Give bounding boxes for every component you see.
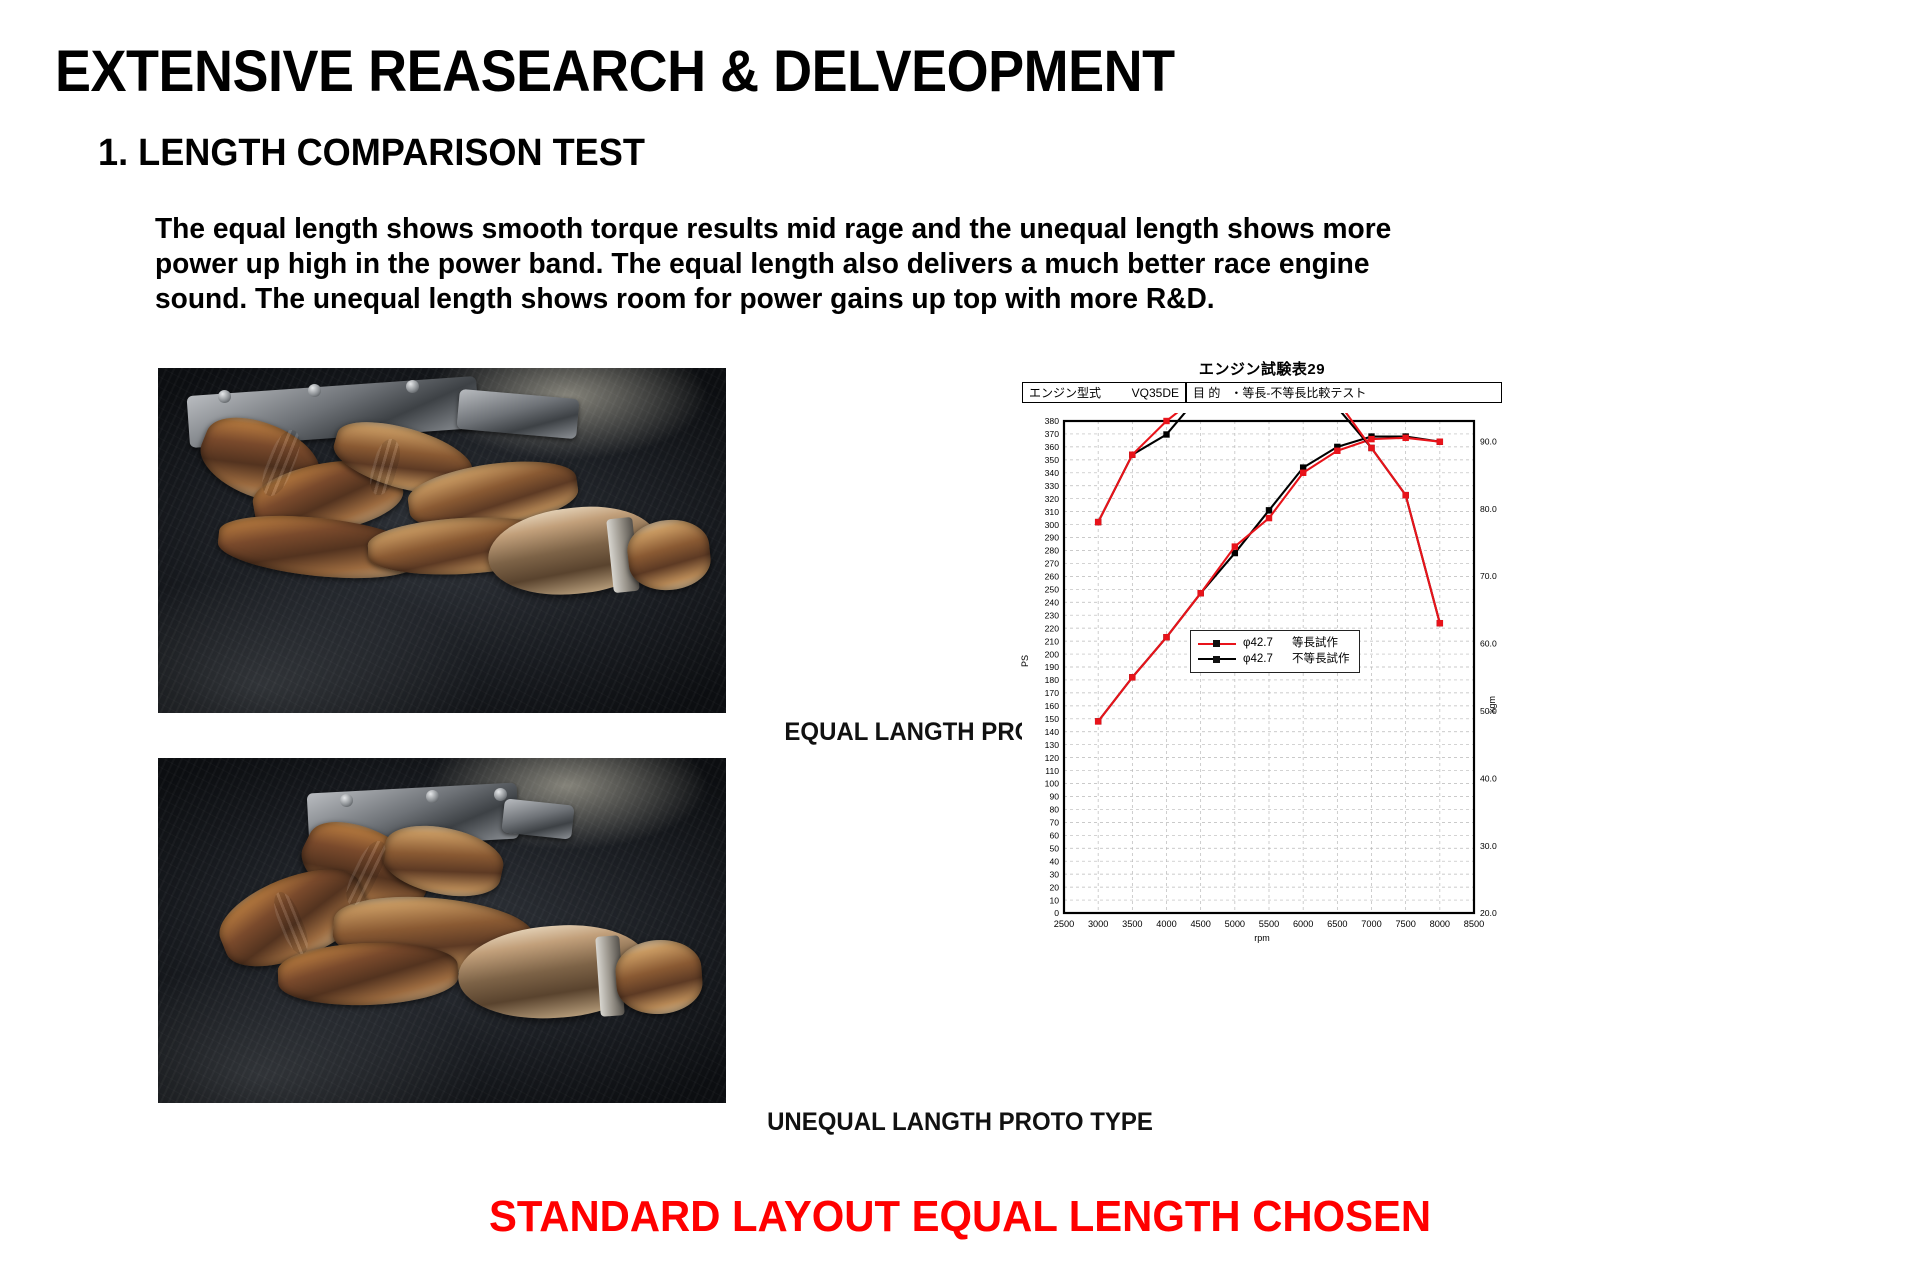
- svg-text:60: 60: [1049, 831, 1059, 841]
- legend-diameter: φ42.7: [1243, 652, 1285, 668]
- svg-text:190: 190: [1045, 662, 1060, 672]
- svg-text:100: 100: [1045, 779, 1060, 789]
- footer-callout: STANDARD LAYOUT EQUAL LENGTH CHOSEN: [48, 1192, 1872, 1242]
- svg-text:340: 340: [1045, 468, 1060, 478]
- svg-text:80: 80: [1049, 805, 1059, 815]
- svg-text:130: 130: [1045, 740, 1060, 750]
- flange-bolt: [218, 390, 231, 403]
- svg-text:8500: 8500: [1464, 919, 1484, 929]
- equal-length-header-photo: [158, 368, 726, 713]
- svg-text:40: 40: [1049, 856, 1059, 866]
- slide-root: EXTENSIVE REASEARCH & DELVEOPMENT 1. LEN…: [0, 0, 1920, 1280]
- svg-text:350: 350: [1045, 455, 1060, 465]
- svg-text:3000: 3000: [1088, 919, 1108, 929]
- chart-title: エンジン試験表29: [1022, 358, 1502, 379]
- head-flange: [501, 798, 574, 839]
- flange-bolt: [494, 788, 507, 801]
- legend-item-unequal: φ42.7 不等長試作: [1198, 652, 1350, 668]
- test-purpose-cell: 目 的 ・等長-不等長比較テスト: [1186, 382, 1502, 403]
- svg-text:6000: 6000: [1293, 919, 1313, 929]
- svg-text:60.0: 60.0: [1480, 639, 1497, 649]
- svg-text:5000: 5000: [1225, 919, 1245, 929]
- svg-text:370: 370: [1045, 429, 1060, 439]
- svg-text:170: 170: [1045, 688, 1060, 698]
- svg-text:150: 150: [1045, 714, 1060, 724]
- dyno-chart: エンジン試験表29 エンジン型式 VQ35DE 目 的 ・等長-不等長比較テスト…: [1022, 358, 1502, 958]
- svg-text:110: 110: [1045, 766, 1059, 776]
- svg-text:300: 300: [1045, 520, 1060, 530]
- plot-svg: 0102030405060708090100110120130140150160…: [1022, 413, 1502, 953]
- unequal-length-photo-caption: UNEQUAL LANGTH PROTO TYPE: [38, 1108, 1881, 1137]
- body-paragraph: The equal length shows smooth torque res…: [155, 212, 1455, 317]
- svg-text:270: 270: [1045, 559, 1060, 569]
- svg-text:3500: 3500: [1122, 919, 1142, 929]
- legend-line-swatch-red: [1198, 639, 1236, 649]
- plot-area: 0102030405060708090100110120130140150160…: [1022, 413, 1502, 953]
- svg-text:20.0: 20.0: [1480, 908, 1497, 918]
- svg-text:120: 120: [1045, 753, 1060, 763]
- engine-model-label: エンジン型式: [1029, 384, 1101, 401]
- svg-text:200: 200: [1045, 649, 1060, 659]
- y-axis-title-left: PS: [1020, 655, 1030, 667]
- svg-text:30: 30: [1049, 869, 1059, 879]
- flange-bolt: [340, 794, 353, 807]
- page-title: EXTENSIVE REASEARCH & DELVEOPMENT: [55, 38, 1175, 105]
- svg-text:250: 250: [1045, 585, 1060, 595]
- flange-bolt: [406, 380, 419, 393]
- engine-model-cell: エンジン型式 VQ35DE: [1022, 382, 1186, 403]
- svg-text:8000: 8000: [1430, 919, 1450, 929]
- legend-type: 等長試作: [1292, 636, 1338, 652]
- svg-text:4000: 4000: [1156, 919, 1176, 929]
- svg-text:7500: 7500: [1395, 919, 1415, 929]
- photo-content: [158, 758, 726, 1103]
- svg-text:220: 220: [1045, 623, 1060, 633]
- legend-line-swatch-black: [1198, 654, 1236, 664]
- legend-item-equal: φ42.7 等長試作: [1198, 636, 1350, 652]
- test-purpose-label: 目 的: [1193, 384, 1220, 401]
- svg-text:330: 330: [1045, 481, 1060, 491]
- y-axis-title-right: kgm: [1487, 696, 1497, 713]
- svg-text:80.0: 80.0: [1480, 504, 1497, 514]
- legend-type: 不等長試作: [1292, 652, 1350, 668]
- flange-bolt: [426, 790, 439, 803]
- svg-text:70: 70: [1049, 818, 1059, 828]
- test-purpose-value: ・等長-不等長比較テスト: [1230, 384, 1366, 401]
- svg-text:260: 260: [1045, 572, 1060, 582]
- svg-text:6500: 6500: [1327, 919, 1347, 929]
- svg-text:20: 20: [1049, 882, 1059, 892]
- svg-text:280: 280: [1045, 546, 1060, 556]
- svg-text:310: 310: [1045, 507, 1060, 517]
- svg-text:160: 160: [1045, 701, 1060, 711]
- equal-length-photo-caption: EQUAL LANGTH PROTO TYPE: [38, 718, 1881, 747]
- photo-content: [158, 368, 726, 713]
- x-axis-title: rpm: [1022, 933, 1502, 943]
- svg-text:90.0: 90.0: [1480, 436, 1497, 446]
- section-heading: 1. LENGTH COMPARISON TEST: [98, 132, 645, 175]
- svg-text:0: 0: [1054, 908, 1059, 918]
- svg-text:90: 90: [1049, 792, 1059, 802]
- svg-text:210: 210: [1045, 636, 1060, 646]
- svg-text:30.0: 30.0: [1480, 841, 1497, 851]
- svg-text:380: 380: [1045, 416, 1060, 426]
- svg-text:10: 10: [1049, 895, 1059, 905]
- svg-text:40.0: 40.0: [1480, 773, 1497, 783]
- svg-text:70.0: 70.0: [1480, 571, 1497, 581]
- svg-text:230: 230: [1045, 610, 1060, 620]
- svg-text:5500: 5500: [1259, 919, 1279, 929]
- svg-text:7000: 7000: [1361, 919, 1381, 929]
- svg-text:180: 180: [1045, 675, 1060, 685]
- svg-text:320: 320: [1045, 494, 1060, 504]
- svg-text:290: 290: [1045, 533, 1060, 543]
- svg-text:240: 240: [1045, 597, 1060, 607]
- svg-text:4500: 4500: [1190, 919, 1210, 929]
- svg-text:360: 360: [1045, 442, 1060, 452]
- legend-diameter: φ42.7: [1243, 636, 1285, 652]
- svg-text:50: 50: [1049, 843, 1059, 853]
- flange-bolt: [308, 384, 321, 397]
- svg-text:2500: 2500: [1054, 919, 1074, 929]
- svg-text:140: 140: [1045, 727, 1060, 737]
- engine-model-value: VQ35DE: [1132, 386, 1179, 400]
- chart-info-bar: エンジン型式 VQ35DE 目 的 ・等長-不等長比較テスト: [1022, 382, 1502, 403]
- chart-legend: φ42.7 等長試作 φ42.7 不等長試作: [1190, 630, 1360, 673]
- unequal-length-header-photo: [158, 758, 726, 1103]
